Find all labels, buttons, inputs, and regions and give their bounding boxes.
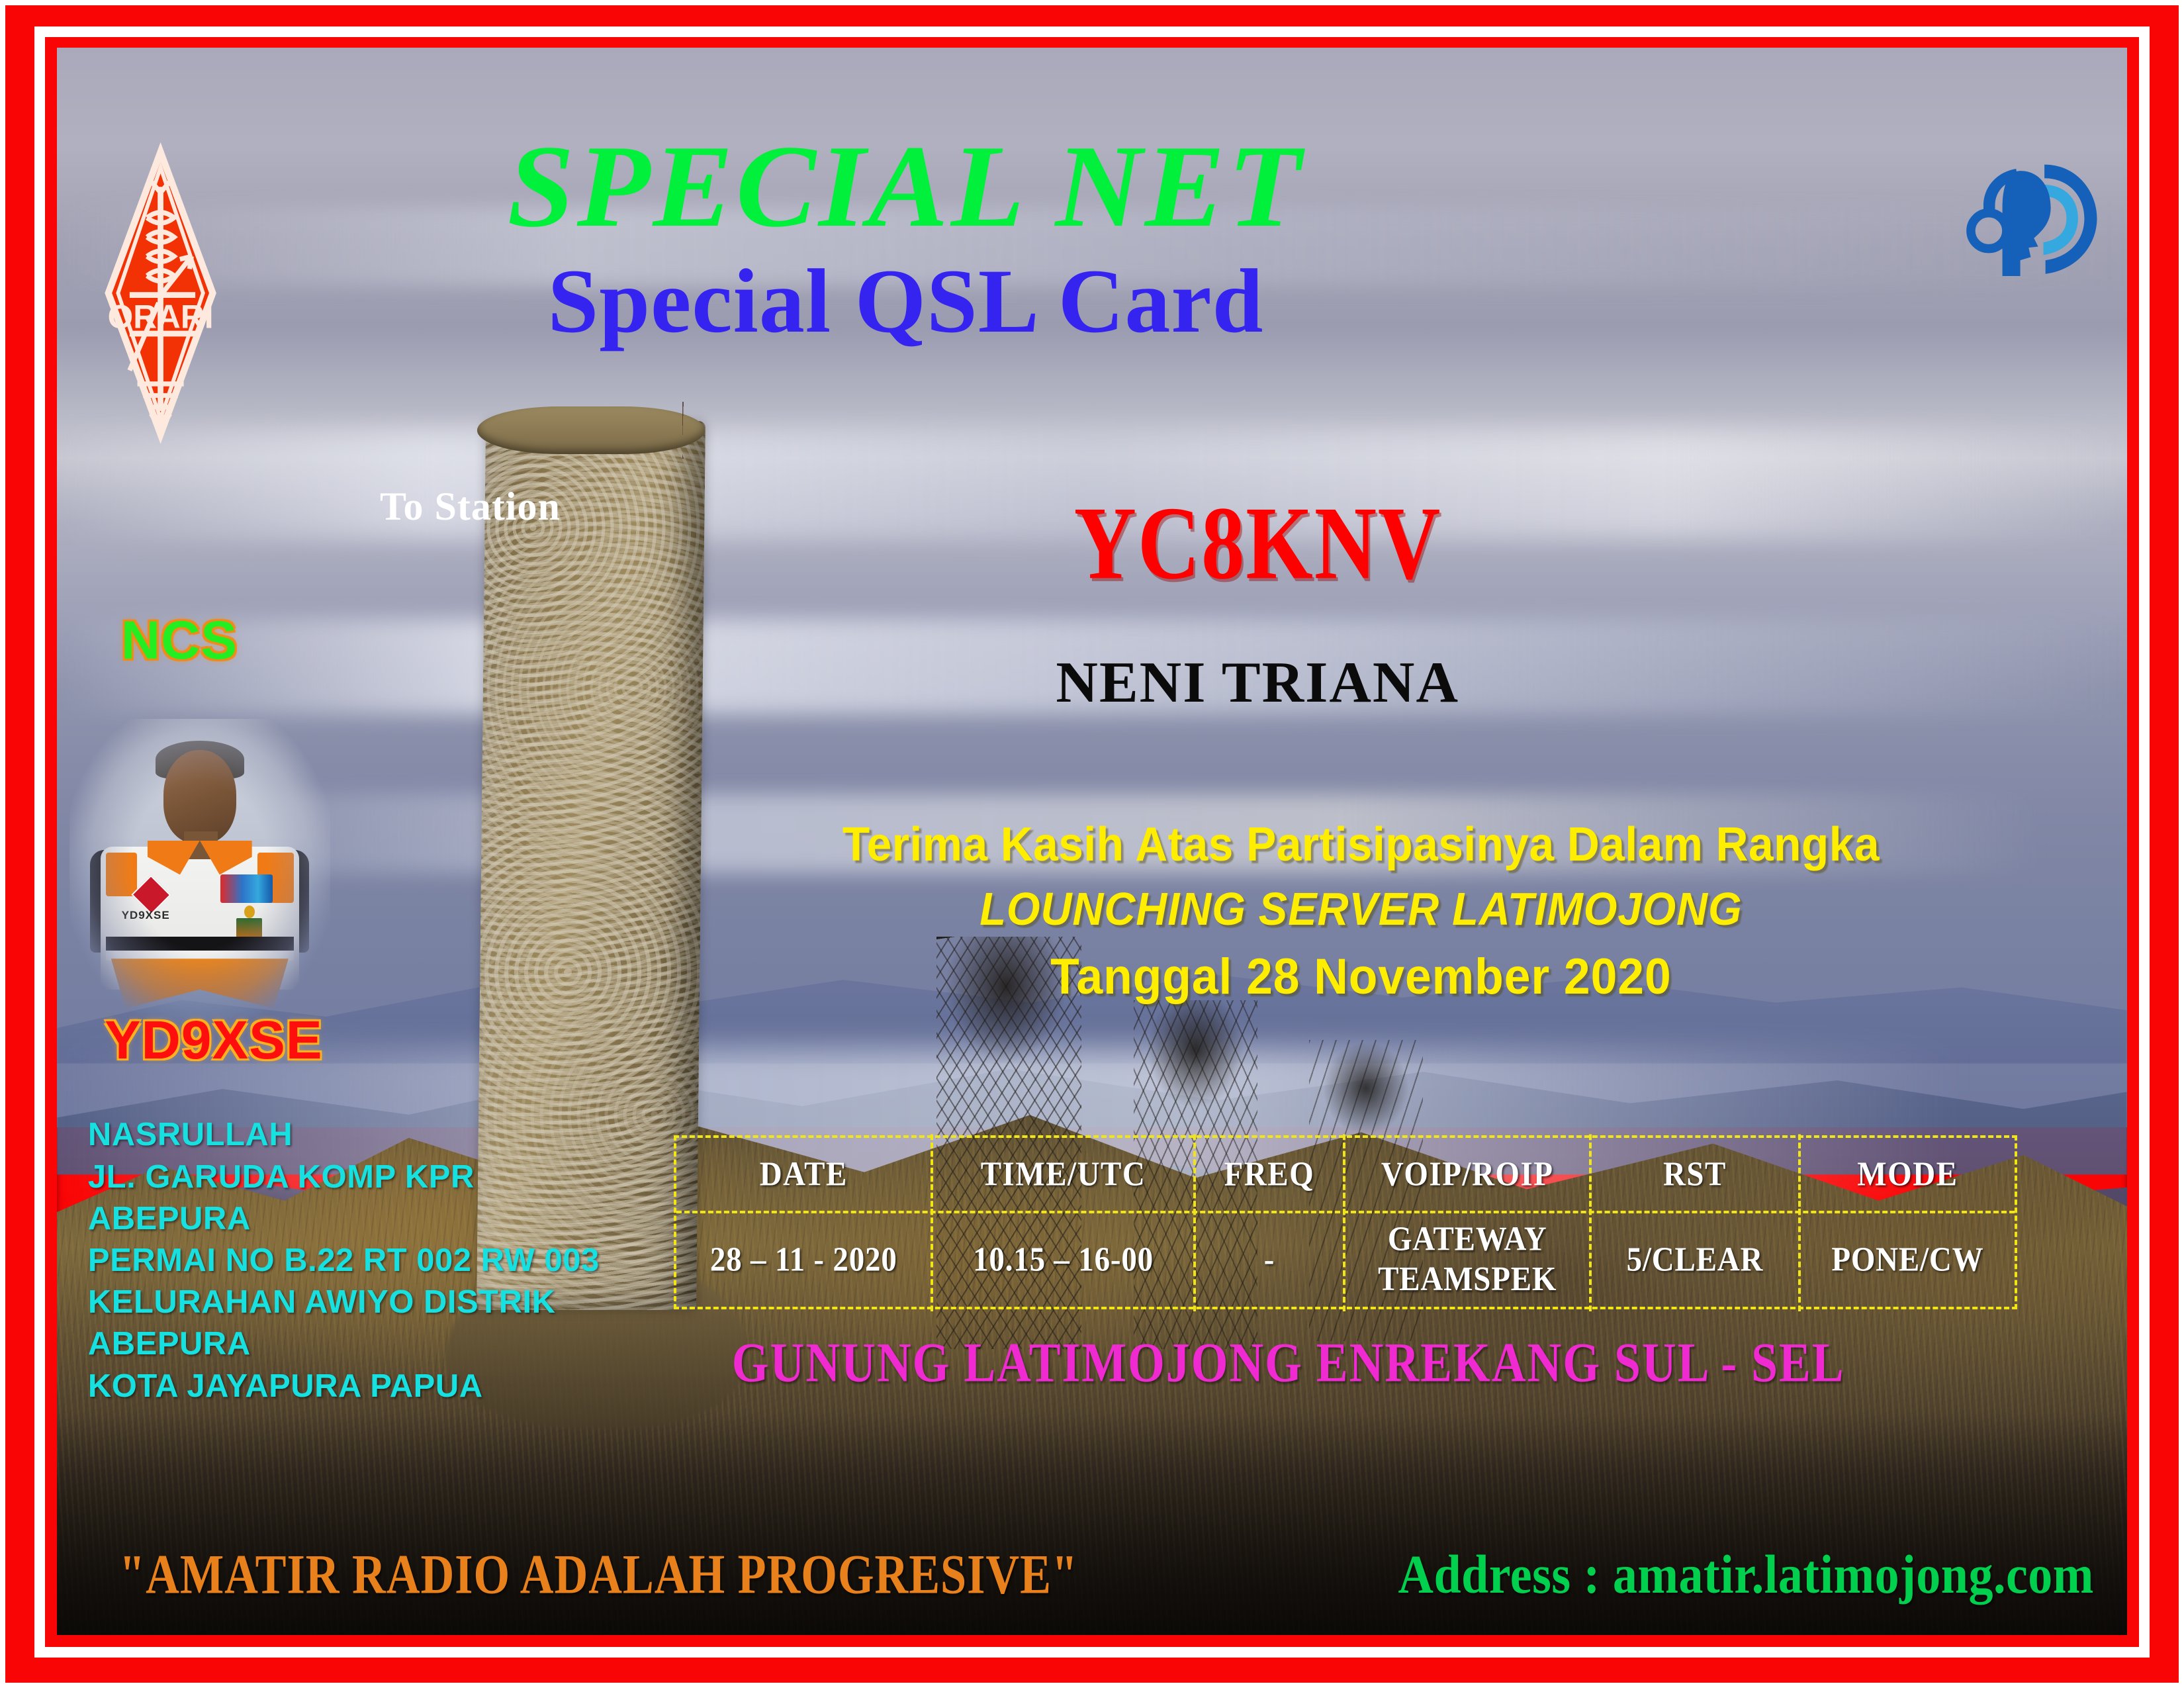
- orari-logo-text: ORARI: [107, 298, 213, 335]
- table-cell-voip: GATEWAY TEAMSPEK: [1345, 1209, 1592, 1311]
- table-cell-date: 28 – 11 - 2020: [676, 1209, 933, 1311]
- address-line: JL. GARUDA KOMP KPR: [88, 1156, 668, 1198]
- address-line: ABEPURA: [88, 1323, 668, 1365]
- table-row: 28 – 11 - 2020 10.15 – 16-00 - GATEWAY T…: [676, 1213, 2015, 1307]
- ncs-badge-label: NCS: [121, 610, 238, 672]
- table-header-voip: VOIP/ROIP: [1345, 1134, 1592, 1215]
- footer-slogan: "AMATIR RADIO ADALAH PROGRESIVE": [119, 1543, 1078, 1608]
- table-cell-rst: 5/CLEAR: [1592, 1209, 1800, 1311]
- content-layer: ORARI SPECIAL NET Special: [57, 48, 2127, 1635]
- ncs-callsign: YD9XSE: [105, 1009, 323, 1072]
- page-title: SPECIAL NET: [240, 127, 1570, 245]
- qsl-mailing-address: NASRULLAH JL. GARUDA KOMP KPR ABEPURA PE…: [88, 1114, 668, 1407]
- table-cell-mode: PONE/CW: [1801, 1209, 2015, 1311]
- photo-vignette: YD9XSE: [69, 719, 330, 1030]
- orari-logo: ORARI: [103, 99, 218, 488]
- qso-log-table: DATE TIME/UTC FREQ VOIP/ROIP RST MODE 28…: [674, 1135, 2017, 1310]
- card-background-photo: ORARI SPECIAL NET Special: [57, 48, 2127, 1635]
- station-callsign: YC8KNV: [940, 491, 1576, 596]
- qsl-card: ORARI SPECIAL NET Special: [0, 0, 2184, 1688]
- address-line: ABEPURA: [88, 1198, 668, 1240]
- operator-name: NENI TRIANA: [927, 654, 1589, 712]
- table-header-date: DATE: [676, 1134, 933, 1215]
- event-thanks-line: Terima Kasih Atas Partisipasinya Dalam R…: [778, 818, 1945, 873]
- location-caption: GUNUNG LATIMOJONG ENREKANG SUL - SEL: [666, 1331, 1911, 1395]
- event-text-block: Terima Kasih Atas Partisipasinya Dalam R…: [740, 818, 1982, 1006]
- id-card-clip: [244, 906, 255, 918]
- uniform-orange-left: [106, 853, 137, 896]
- portrait-face: [163, 750, 236, 843]
- uniform-patch-badge: [220, 874, 273, 902]
- table-header-time: TIME/UTC: [933, 1134, 1195, 1215]
- table-cell-time: 10.15 – 16-00: [933, 1209, 1195, 1311]
- uniform-belt-dark: [106, 937, 294, 953]
- table-header-mode: MODE: [1801, 1134, 2015, 1215]
- to-station-label: To Station: [380, 484, 561, 530]
- event-date-line: Tanggal 28 November 2020: [778, 948, 1945, 1006]
- address-line: KELURAHAN AWIYO DISTRIK: [88, 1282, 668, 1323]
- table-header-row: DATE TIME/UTC FREQ VOIP/ROIP RST MODE: [676, 1138, 2015, 1214]
- table-header-freq: FREQ: [1196, 1134, 1345, 1215]
- page-subtitle: Special QSL Card: [253, 256, 1558, 347]
- radio-listener-logo: [1966, 83, 2102, 353]
- ncs-operator-photo: YD9XSE: [69, 719, 330, 1030]
- uniform-callsign-embroidery: YD9XSE: [122, 909, 170, 922]
- event-title-line: LOUNCHING SERVER LATIMOJONG: [784, 882, 1938, 936]
- uniform-orange-sash: [111, 959, 289, 1008]
- footer-web-address: Address : amatir.latimojong.com: [1398, 1544, 2094, 1607]
- table-header-rst: RST: [1592, 1134, 1800, 1215]
- address-line: KOTA JAYAPURA PAPUA: [88, 1366, 668, 1407]
- table-cell-freq: -: [1196, 1209, 1345, 1311]
- address-line: NASRULLAH: [88, 1114, 668, 1156]
- address-line: PERMAI NO B.22 RT 002 RW 003: [88, 1240, 668, 1282]
